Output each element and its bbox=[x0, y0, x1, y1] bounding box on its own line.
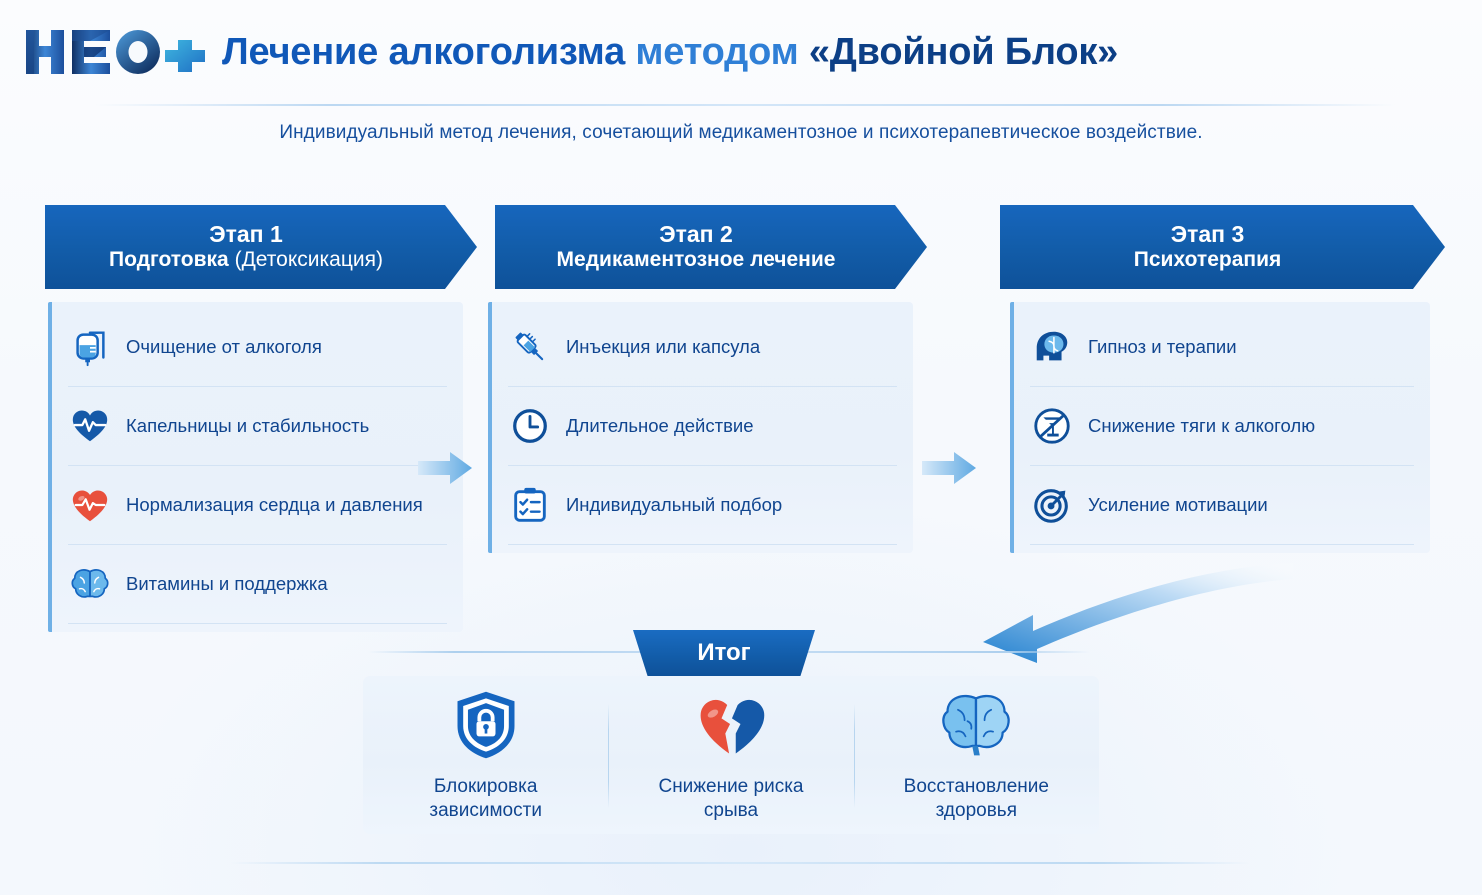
list-item-label: Витамины и поддержка bbox=[126, 573, 328, 595]
list-item-label: Нормализация сердца и давления bbox=[126, 494, 423, 516]
list-item[interactable]: Очищение от алкоголя bbox=[68, 308, 447, 387]
stage-1-name: Подготовка (Детоксикация) bbox=[109, 247, 383, 272]
list-item-label: Капельницы и стабильность bbox=[126, 415, 369, 437]
title-part-3: «Двойной Блок» bbox=[809, 31, 1118, 73]
syringe-icon bbox=[508, 325, 552, 369]
stage-connector-arrow-2 bbox=[920, 448, 978, 488]
title-part-2: методом bbox=[635, 31, 798, 73]
result-item-label: Блокировка зависимости bbox=[429, 775, 542, 824]
stage-1-name-bold: Подготовка bbox=[109, 248, 229, 271]
page-title: Лечение алкоголизма методом «Двойной Бло… bbox=[222, 31, 1118, 74]
iv-drip-icon bbox=[68, 325, 112, 369]
page-subtitle: Индивидуальный метод лечения, сочетающий… bbox=[0, 122, 1482, 144]
result-banner-label: Итог bbox=[697, 639, 750, 667]
stage-2-name-bold: Медикаментозное лечение bbox=[557, 248, 836, 271]
stage-2-name: Медикаментозное лечение bbox=[557, 247, 836, 272]
stage-2-header: Этап 2 Медикаментозное лечение bbox=[495, 205, 927, 289]
stage-3-items: Гипноз и терапии Снижение тяги к алкогол… bbox=[1010, 302, 1430, 553]
stage-1-items: Очищение от алкоголя Капельницы и стабил… bbox=[48, 302, 463, 632]
broken-heart-icon bbox=[690, 687, 772, 763]
page-header: Лечение алкоголизма методом «Двойной Бло… bbox=[0, 0, 1482, 104]
list-item-label: Индивидуальный подбор bbox=[566, 494, 782, 516]
result-item-relapse[interactable]: Снижение риска срыва bbox=[608, 694, 853, 816]
clipboard-checklist-icon bbox=[508, 483, 552, 527]
stage-1-header: Этап 1 Подготовка (Детоксикация) bbox=[45, 205, 477, 289]
list-item[interactable]: Нормализация сердца и давления bbox=[68, 466, 447, 545]
neo-plus-logo bbox=[22, 24, 208, 80]
brain-recovery-icon bbox=[935, 687, 1017, 763]
stage-2-number: Этап 2 bbox=[659, 222, 733, 247]
stage-3-name: Психотерапия bbox=[1134, 247, 1281, 272]
list-item-label: Длительное действие bbox=[566, 415, 754, 437]
result-banner: Итог bbox=[633, 630, 815, 676]
stage-connector-arrow-1 bbox=[416, 448, 474, 488]
result-section: Итог Блокировка зависимости bbox=[0, 628, 1482, 868]
stage-3-header: Этап 3 Психотерапия bbox=[1000, 205, 1445, 289]
list-item[interactable]: Гипноз и терапии bbox=[1030, 308, 1414, 387]
shield-lock-icon bbox=[445, 687, 527, 763]
header-divider bbox=[95, 104, 1395, 106]
heart-pulse-red-icon bbox=[68, 483, 112, 527]
target-arrow-icon bbox=[1030, 483, 1074, 527]
list-item-label: Гипноз и терапии bbox=[1088, 336, 1237, 358]
heart-pulse-blue-icon bbox=[68, 404, 112, 448]
list-item[interactable]: Витамины и поддержка bbox=[68, 545, 447, 624]
stage-3-name-bold: Психотерапия bbox=[1134, 248, 1281, 271]
stage-3-number: Этап 3 bbox=[1171, 222, 1245, 247]
head-brain-icon bbox=[1030, 325, 1074, 369]
stage-card-2: Этап 2 Медикаментозное лечение bbox=[495, 205, 927, 553]
clock-icon bbox=[508, 404, 552, 448]
stage-1-number: Этап 1 bbox=[209, 222, 283, 247]
footer-divider bbox=[230, 862, 1250, 864]
list-item[interactable]: Усиление мотивации bbox=[1030, 466, 1414, 545]
list-item[interactable]: Инъекция или капсула bbox=[508, 308, 897, 387]
no-alcohol-glass-icon bbox=[1030, 404, 1074, 448]
result-item-label: Снижение риска срыва bbox=[658, 775, 803, 824]
brain-icon bbox=[68, 562, 112, 606]
stage-card-1: Этап 1 Подготовка (Детоксикация) bbox=[45, 205, 477, 632]
title-part-1: Лечение алкоголизма bbox=[222, 31, 625, 73]
list-item-label: Снижение тяги к алкоголю bbox=[1088, 415, 1315, 437]
result-item-label: Восстановление здоровья bbox=[904, 775, 1049, 824]
stage-2-items: Инъекция или капсула Длительное действие bbox=[488, 302, 913, 553]
list-item-label: Инъекция или капсула bbox=[566, 336, 760, 358]
list-item-label: Усиление мотивации bbox=[1088, 494, 1268, 516]
stage-card-3: Этап 3 Психотерапия Гипноз и терапии bbox=[1000, 205, 1445, 553]
list-item[interactable]: Индивидуальный подбор bbox=[508, 466, 897, 545]
list-item[interactable]: Капельницы и стабильность bbox=[68, 387, 447, 466]
result-item-health[interactable]: Восстановление здоровья bbox=[854, 694, 1099, 816]
stage-1-name-soft: (Детоксикация) bbox=[235, 248, 383, 271]
list-item-label: Очищение от алкоголя bbox=[126, 336, 322, 358]
result-item-blocking[interactable]: Блокировка зависимости bbox=[363, 694, 608, 816]
list-item[interactable]: Длительное действие bbox=[508, 387, 897, 466]
result-card: Блокировка зависимости Снижение риска ср… bbox=[363, 676, 1099, 834]
list-item[interactable]: Снижение тяги к алкоголю bbox=[1030, 387, 1414, 466]
